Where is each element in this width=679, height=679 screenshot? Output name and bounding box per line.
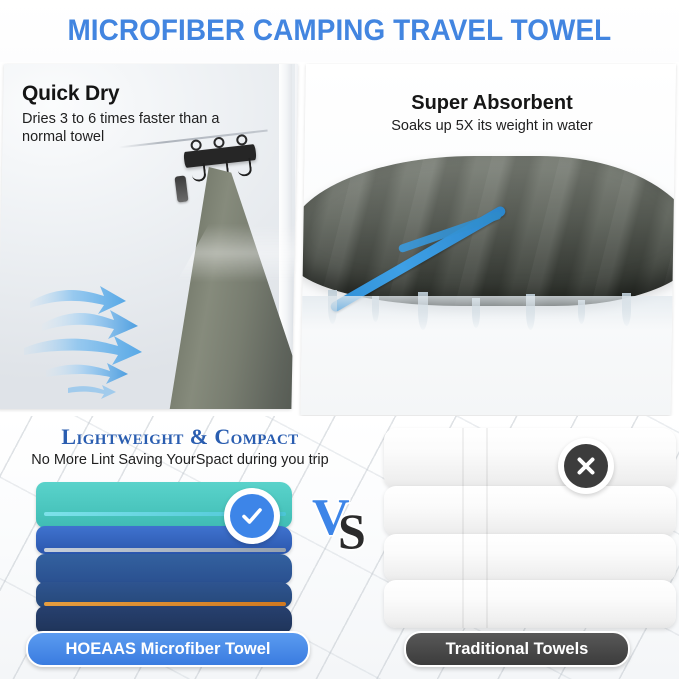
comparison-subtitle: No More Lint Saving YourSpact during you… [0,452,360,468]
hook-curl [236,158,252,177]
twisted-towel [300,156,676,306]
product-infographic: MICROFIBER CAMPING TRAVEL TOWEL [0,0,679,679]
airflow-arrows-icon [22,274,212,404]
towel-trim [44,548,286,552]
panel-super-absorbent: Super Absorbent Soaks up 5X its weight i… [300,64,676,415]
super-absorbent-subtitle: Soaks up 5X its weight in water [300,118,676,134]
list-item [384,428,676,488]
list-item [384,534,676,582]
vs-letter-s: S [338,506,366,556]
wall-trim-secondary [295,64,298,409]
check-circle-icon [224,488,280,544]
comparison-heading: Lightweight & Compact [0,424,360,450]
list-item [36,554,292,584]
list-item [384,580,676,628]
quick-dry-subtitle: Dries 3 to 6 times faster than a normal … [22,110,222,146]
towel-clip [174,175,188,202]
product-label-badge: HOEAAS Microfiber Towel [26,631,310,667]
super-absorbent-heading: Super Absorbent [300,92,676,115]
list-item [36,606,292,634]
quick-dry-heading: Quick Dry [22,82,222,106]
hook-rack-icon [183,144,256,168]
competitor-towel-stack [384,428,679,636]
panel-comparison: Lightweight & Compact No More Lint Savin… [0,416,679,679]
page-title: MICROFIBER CAMPING TRAVEL TOWEL [68,14,612,48]
versus-mark: V S [312,492,374,550]
competitor-label-badge: Traditional Towels [404,631,630,667]
hook-pin [236,134,248,146]
water-pool [300,296,676,330]
x-circle-icon [558,438,614,494]
super-absorbent-photo: Super Absorbent Soaks up 5X its weight i… [300,64,676,415]
wet-towel-image [300,150,676,330]
list-item [384,486,676,536]
header-bar: MICROFIBER CAMPING TRAVEL TOWEL [0,0,679,62]
hook-curl [191,163,207,182]
quick-dry-text-block: Quick Dry Dries 3 to 6 times faster than… [22,82,222,146]
